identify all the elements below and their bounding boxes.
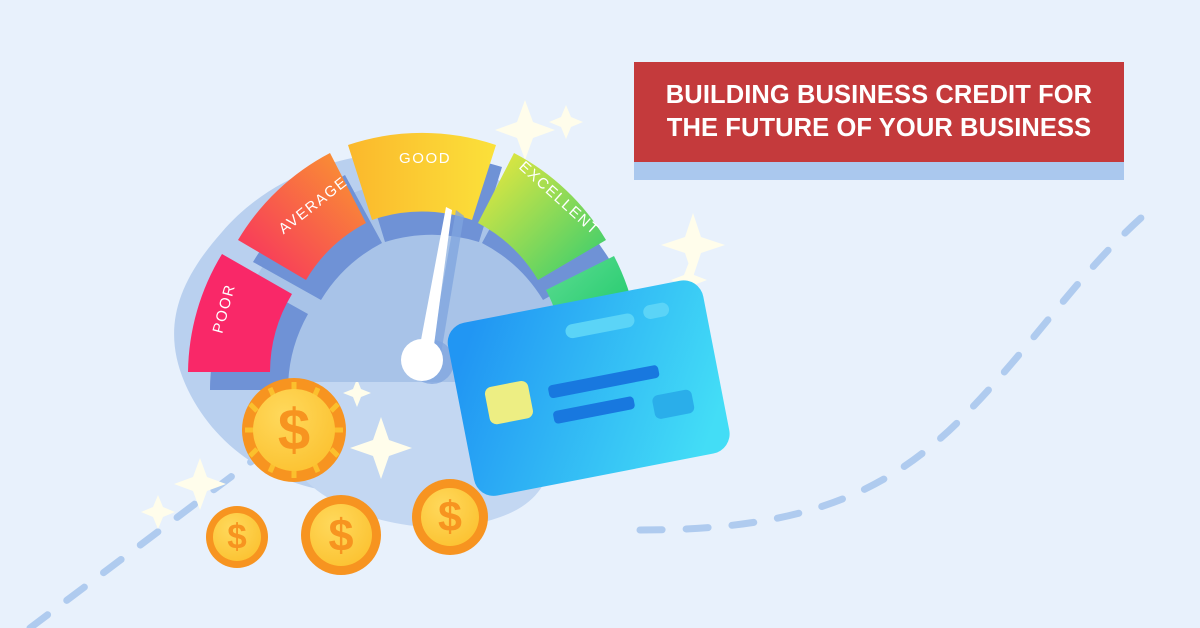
coin-large: $	[242, 378, 346, 482]
coin-dollar-symbol: $	[227, 518, 246, 557]
gauge-segment-good[interactable]	[348, 133, 496, 220]
coin-medium-right: $	[412, 479, 488, 555]
headline-banner: BUILDING BUSINESS CREDIT FOR THE FUTURE …	[634, 62, 1124, 162]
coin-medium-center: $	[301, 495, 381, 575]
headline-line-2: THE FUTURE OF YOUR BUSINESS	[667, 112, 1091, 145]
coin-dollar-symbol: $	[278, 398, 310, 463]
illustration-canvas: $ $ $ $ POOR AVERAGE GOOD EXCELLENT BUIL…	[0, 0, 1200, 628]
banner-shadow	[634, 162, 1124, 180]
coin-small-left: $	[206, 506, 268, 568]
coin-dollar-symbol: $	[328, 510, 353, 561]
coin-dollar-symbol: $	[438, 493, 462, 541]
needle-hub	[401, 339, 443, 381]
headline-line-1: BUILDING BUSINESS CREDIT FOR	[666, 79, 1092, 112]
